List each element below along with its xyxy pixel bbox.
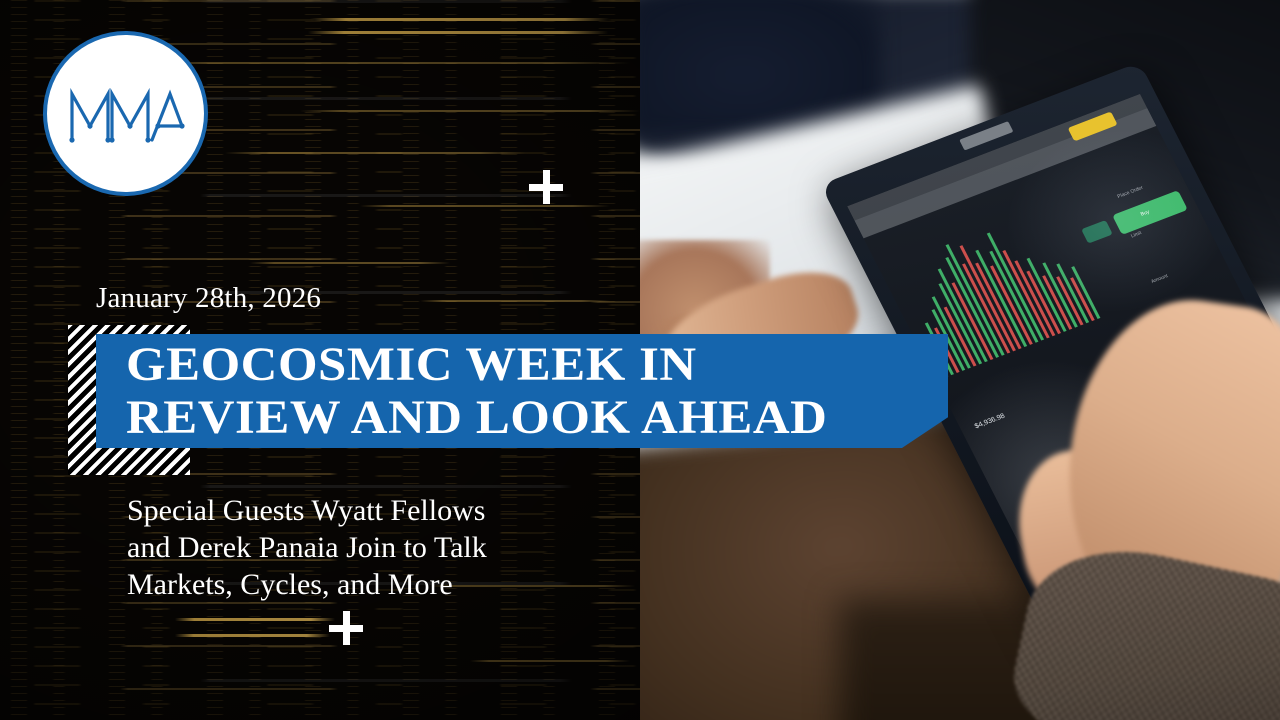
tablet-limit-toggle — [1081, 220, 1113, 244]
gold-streak — [250, 262, 450, 264]
title-banner: GEOCOSMIC WEEK IN REVIEW AND LOOK AHEAD — [96, 334, 948, 448]
subtitle-line-1: Special Guests Wyatt Fellows — [127, 492, 647, 529]
tablet-limit-label: Limit — [1130, 230, 1143, 239]
thumbnail-canvas: Buy Place Order Limit Amount $4,936.98 0… — [0, 0, 1280, 720]
gold-streak — [310, 18, 610, 21]
gold-streak — [225, 152, 525, 154]
mma-logo-mark — [66, 82, 186, 146]
tablet-buy-label: Buy — [1140, 209, 1151, 217]
episode-subtitle: Special Guests Wyatt Fellows and Derek P… — [127, 492, 647, 603]
gold-streak — [175, 618, 335, 621]
gold-streak — [420, 300, 610, 302]
tablet-amount-label: Amount — [1150, 273, 1169, 285]
subtitle-line-2: and Derek Panaia Join to Talk — [127, 529, 647, 566]
episode-date: January 28th, 2026 — [96, 282, 321, 315]
gold-streak — [150, 62, 630, 64]
plus-icon — [529, 170, 563, 204]
gold-streak — [300, 110, 640, 112]
tablet-place-order-label: Place Order — [1116, 185, 1144, 200]
gold-streak — [308, 31, 608, 34]
gold-streak — [470, 660, 630, 662]
subtitle-line-3: Markets, Cycles, and More — [127, 566, 647, 603]
plus-icon — [329, 611, 363, 645]
tablet-price-value: $4,936.98 — [974, 413, 1006, 430]
gold-streak — [175, 634, 330, 637]
mma-logo — [47, 35, 204, 192]
page-title-line-2: REVIEW AND LOOK AHEAD — [126, 391, 997, 444]
page-title-line-1: GEOCOSMIC WEEK IN — [126, 338, 997, 391]
gold-streak — [360, 205, 610, 207]
